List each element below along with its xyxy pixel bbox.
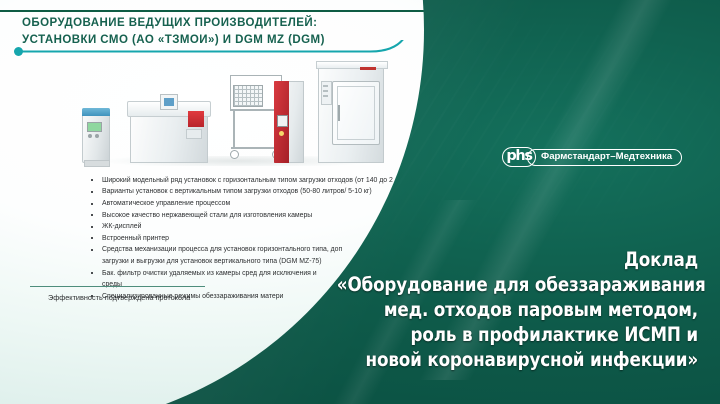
slide-bullet-item: ЖК-дисплей	[88, 221, 398, 232]
talk-title-line: роль в профилактике ИСМП и	[337, 322, 698, 347]
slide-bullet-item: Высокое качество нержавеющей стали для и…	[88, 210, 398, 221]
talk-title-line: новой коронавирусной инфекции»	[337, 347, 698, 372]
slide-header-line-2: УСТАНОВКИ СМО (АО «ТЗМОИ») И DGM MZ (DGM…	[22, 32, 362, 49]
equipment-large-chamber-sterilizer	[318, 65, 384, 163]
slide-footnote: Эффективность подтверждена протокола	[48, 292, 308, 303]
slide-bullet-item: Варианты установок с вертикальным типом …	[88, 186, 398, 197]
slide-header: ОБОРУДОВАНИЕ ВЕДУЩИХ ПРОИЗВОДИТЕЛЕЙ: УСТ…	[22, 15, 362, 48]
slide-bullet-item: Встроенный принтер	[88, 233, 398, 244]
company-name: Фармстандарт–Медтехника	[527, 149, 682, 166]
talk-title-line: Доклад	[337, 247, 698, 272]
slide-bullet-item: Автоматическое управление процессом	[88, 198, 398, 209]
equipment-vertical-red-sterilizer	[274, 81, 304, 163]
equipment-small-vertical-sterilizer	[82, 108, 110, 163]
phs-logo-icon: phs	[502, 147, 536, 167]
slide-header-line-1: ОБОРУДОВАНИЕ ВЕДУЩИХ ПРОИЗВОДИТЕЛЕЙ:	[22, 15, 362, 32]
slide-bullet-item: Широкий модельный ряд установок с горизо…	[88, 175, 398, 186]
video-frame: ОБОРУДОВАНИЕ ВЕДУЩИХ ПРОИЗВОДИТЕЛЕЙ: УСТ…	[0, 0, 720, 404]
footnote-divider	[30, 286, 205, 287]
equipment-photo-row	[78, 58, 388, 163]
company-logo: phs Фармстандарт–Медтехника	[502, 147, 682, 167]
talk-title: Доклад«Оборудование для обеззараживаниям…	[337, 247, 698, 372]
talk-title-line: мед. отходов паровым методом,	[337, 297, 698, 322]
equipment-horizontal-loading-sterilizer	[130, 101, 206, 163]
talk-title-line: «Оборудование для обеззараживания	[337, 272, 698, 297]
